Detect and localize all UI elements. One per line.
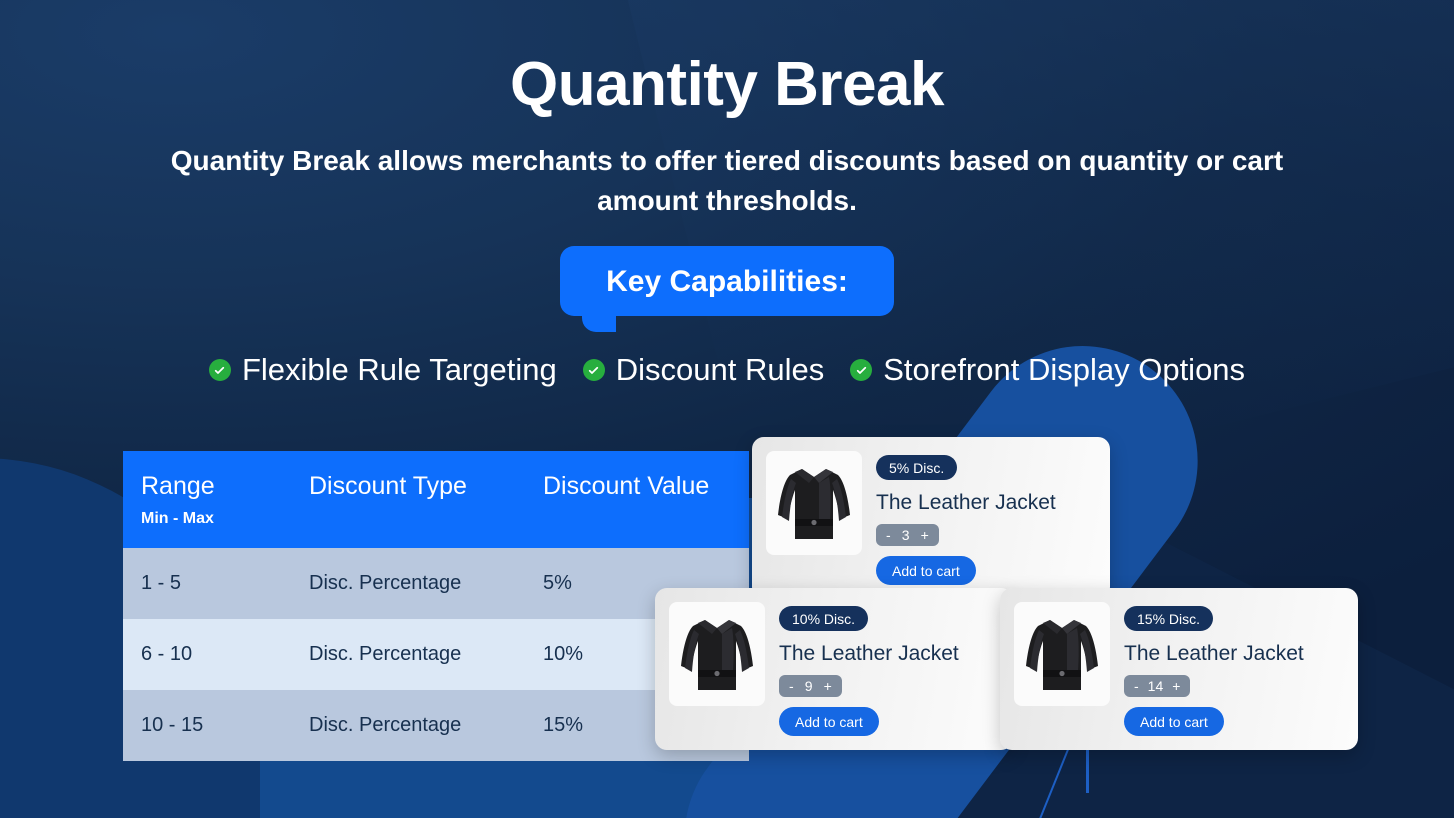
table-head: Range Min - Max Discount Type Discount V… [123, 451, 749, 548]
capability-item: Discount Rules [583, 352, 824, 388]
key-capabilities-label: Key Capabilities: [606, 265, 848, 298]
check-circle-icon [850, 359, 872, 381]
capability-label: Storefront Display Options [883, 352, 1245, 388]
cell-discount-type: Disc. Percentage [291, 690, 525, 761]
page-title: Quantity Break [0, 0, 1454, 119]
add-to-cart-button[interactable]: Add to cart [779, 707, 879, 736]
header: Quantity Break Quantity Break allows mer… [0, 0, 1454, 220]
page-subtitle: Quantity Break allows merchants to offer… [137, 141, 1317, 221]
slide-canvas: Quantity Break Quantity Break allows mer… [0, 0, 1454, 818]
discount-badge: 5% Disc. [876, 455, 957, 480]
product-title: The Leather Jacket [779, 642, 959, 666]
column-subtitle: Min - Max [141, 510, 291, 528]
capability-label: Discount Rules [616, 352, 824, 388]
table-header-row: Range Min - Max Discount Type Discount V… [123, 451, 749, 548]
cell-range: 10 - 15 [123, 690, 291, 761]
product-image [1014, 602, 1110, 706]
quantity-stepper[interactable]: - 3 + [876, 524, 939, 546]
quantity-value: 14 [1148, 679, 1164, 693]
cell-range: 1 - 5 [123, 548, 291, 619]
leather-jacket-icon [772, 457, 856, 549]
check-circle-icon [583, 359, 605, 381]
decrement-button[interactable]: - [789, 679, 794, 693]
product-info: 10% Disc. The Leather Jacket - 9 + Add t… [779, 602, 959, 736]
increment-button[interactable]: + [824, 679, 832, 693]
check-circle-icon [209, 359, 231, 381]
capability-label: Flexible Rule Targeting [242, 352, 557, 388]
leather-jacket-icon [1020, 608, 1104, 700]
quantity-stepper[interactable]: - 9 + [779, 675, 842, 697]
product-image [766, 451, 862, 555]
discount-badge: 15% Disc. [1124, 606, 1213, 631]
product-info: 5% Disc. The Leather Jacket - 3 + Add to… [876, 451, 1056, 585]
capabilities-list: Flexible Rule Targeting Discount Rules S… [0, 352, 1454, 388]
increment-button[interactable]: + [921, 528, 929, 542]
leather-jacket-icon [675, 608, 759, 700]
capability-item: Flexible Rule Targeting [209, 352, 557, 388]
product-image [669, 602, 765, 706]
capability-item: Storefront Display Options [850, 352, 1245, 388]
quantity-stepper[interactable]: - 14 + [1124, 675, 1190, 697]
column-title: Discount Value [543, 473, 749, 501]
product-title: The Leather Jacket [876, 491, 1056, 515]
key-capabilities-badge: Key Capabilities: [560, 246, 894, 316]
product-title: The Leather Jacket [1124, 642, 1304, 666]
discount-badge: 10% Disc. [779, 606, 868, 631]
cell-discount-type: Disc. Percentage [291, 619, 525, 690]
key-capabilities-badge-wrap: Key Capabilities: [0, 246, 1454, 316]
product-card[interactable]: 10% Disc. The Leather Jacket - 9 + Add t… [655, 588, 1013, 750]
column-title: Range [141, 473, 291, 501]
cell-discount-type: Disc. Percentage [291, 548, 525, 619]
add-to-cart-button[interactable]: Add to cart [876, 556, 976, 585]
quantity-value: 9 [803, 679, 815, 693]
column-title: Discount Type [309, 473, 525, 501]
increment-button[interactable]: + [1172, 679, 1180, 693]
cell-range: 6 - 10 [123, 619, 291, 690]
column-header-discount-value: Discount Value [525, 451, 749, 548]
decrement-button[interactable]: - [886, 528, 891, 542]
quantity-value: 3 [900, 528, 912, 542]
add-to-cart-button[interactable]: Add to cart [1124, 707, 1224, 736]
product-info: 15% Disc. The Leather Jacket - 14 + Add … [1124, 602, 1304, 736]
column-header-range: Range Min - Max [123, 451, 291, 548]
decrement-button[interactable]: - [1134, 679, 1139, 693]
speech-bubble-tail [582, 310, 616, 332]
product-card[interactable]: 5% Disc. The Leather Jacket - 3 + Add to… [752, 437, 1110, 599]
product-card[interactable]: 15% Disc. The Leather Jacket - 14 + Add … [1000, 588, 1358, 750]
column-header-discount-type: Discount Type [291, 451, 525, 548]
